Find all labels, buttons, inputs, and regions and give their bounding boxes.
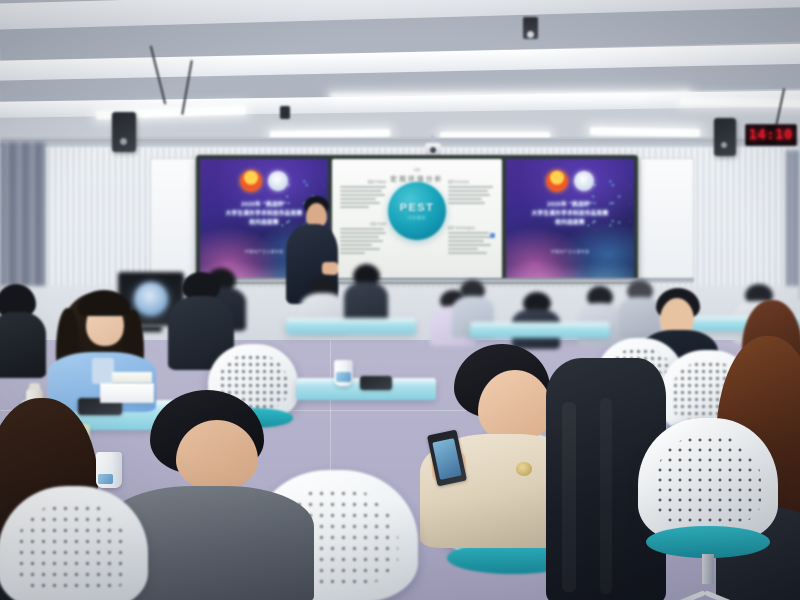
pest-model-badge: PEST 分析模型 — [388, 182, 446, 240]
paper-stack — [112, 372, 152, 383]
pest-label: PEST — [400, 202, 435, 214]
paper-cup — [334, 360, 353, 386]
doc-quadrant: 技术 Technological — [448, 225, 494, 254]
classroom-chair[interactable] — [0, 486, 148, 600]
wall-speaker-icon — [112, 112, 136, 152]
emblem-sun-icon — [240, 170, 262, 192]
student-seated — [344, 264, 388, 326]
classroom-photo: 14:10 2025年 "挑战杯" 大学生课外学术科技作品竞赛 校内选拔赛 中国… — [0, 0, 800, 600]
student-seated — [512, 292, 560, 348]
digital-clock: 14:10 — [745, 124, 797, 146]
classroom-desk — [470, 322, 610, 338]
projector-mount-icon — [523, 17, 538, 39]
doc-marker-icon — [490, 233, 495, 238]
paper-cup — [96, 452, 122, 488]
display-wall: 2025年 "挑战杯" 大学生课外学术科技作品竞赛 校内选拔赛 中国共产主义青年… — [196, 155, 638, 283]
smartphone — [360, 376, 392, 390]
pest-sublabel: 分析模型 — [408, 216, 426, 221]
emblem-seal-icon — [574, 171, 594, 191]
slide-logos — [546, 170, 594, 192]
window-curtain — [786, 150, 800, 300]
doc-quadrant: 政治 Political — [340, 179, 386, 208]
ceiling-speaker-icon — [280, 106, 290, 119]
wall-speaker-icon — [714, 118, 736, 156]
ceiling-light — [590, 127, 700, 137]
slide-logos — [240, 170, 288, 192]
emblem-seal-icon — [268, 171, 288, 191]
clock-time: 14:10 — [749, 128, 793, 143]
center-screen[interactable]: 分析 宏观环境分析 政治 Political 社会 Social 经济 Econ… — [332, 159, 502, 279]
whiteboard-left — [150, 158, 196, 280]
right-screen[interactable]: 2025年 "挑战杯" 大学生课外学术科技作品竞赛 校内选拔赛 中国共产主义青年… — [506, 159, 634, 279]
student-left-edge — [0, 284, 46, 374]
classroom-desk — [286, 318, 416, 334]
doc-quadrant: 社会 Social — [340, 221, 386, 254]
right-slide-title: 2025年 "挑战杯" 大学生课外学术科技作品竞赛 校内选拔赛 — [512, 201, 628, 228]
doc-quadrant: 经济 Economic — [448, 179, 494, 204]
emblem-sun-icon — [546, 170, 568, 192]
classroom-chair[interactable] — [638, 418, 778, 542]
whiteboard-right — [640, 158, 694, 280]
doc-eyebrow: 分析 — [332, 167, 502, 172]
